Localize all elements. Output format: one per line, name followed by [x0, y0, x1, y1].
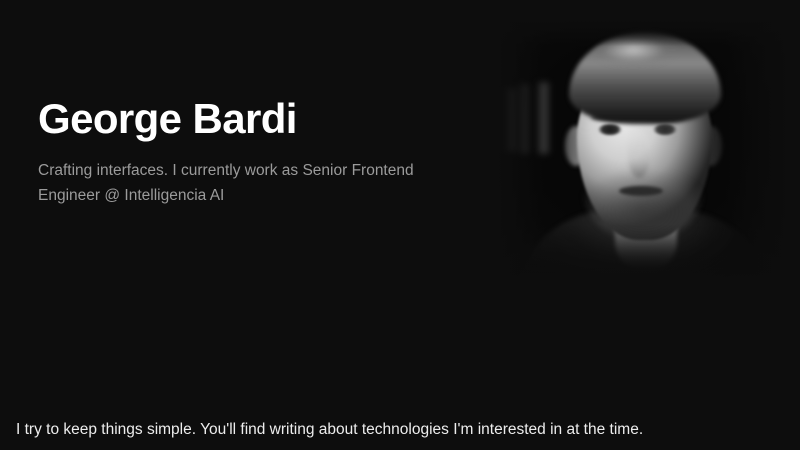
intro-tagline: Crafting interfaces. I currently work as… — [38, 158, 423, 208]
hero-section: George Bardi Crafting interfaces. I curr… — [0, 0, 800, 300]
portrait-photo — [497, 20, 790, 282]
portrait-eye-right — [653, 124, 677, 135]
portrait-frame — [497, 20, 790, 282]
background-light-streak-icon — [538, 82, 549, 154]
background-light-streak-icon — [519, 84, 529, 154]
background-light-streak-icon — [505, 88, 516, 152]
page-title: George Bardi — [38, 94, 438, 144]
portrait-hair-highlight — [593, 38, 689, 68]
portrait-nose — [628, 132, 650, 178]
portrait-eye-left — [598, 124, 622, 135]
about-blurb: I try to keep things simple. You'll find… — [16, 418, 643, 442]
intro-block: George Bardi Crafting interfaces. I curr… — [38, 94, 438, 208]
portrait-mouth — [619, 186, 663, 196]
